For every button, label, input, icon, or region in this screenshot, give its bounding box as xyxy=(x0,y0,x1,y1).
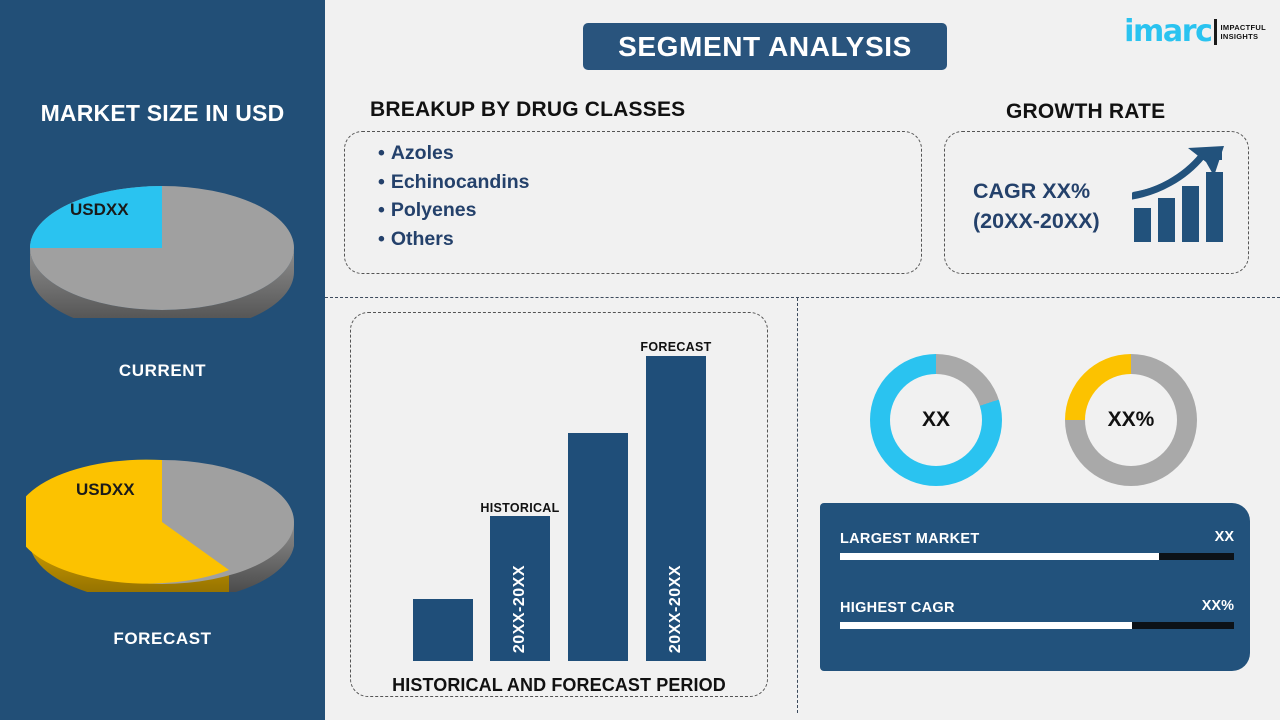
bullet-icon: • xyxy=(378,199,385,221)
highest-cagr-label: HIGHEST CAGR xyxy=(840,600,955,616)
bar-4-label: 20XX-20XX xyxy=(667,565,685,653)
list-item: •Echinocandins xyxy=(378,168,530,197)
logo-tagline-line1: IMPACTFUL xyxy=(1221,23,1266,32)
bullet-icon: • xyxy=(378,142,385,164)
list-item-label: Azoles xyxy=(391,142,454,164)
largest-market-track xyxy=(840,553,1234,560)
list-item: •Polyenes xyxy=(378,196,530,225)
pie-chart-forecast: USDXX xyxy=(26,442,298,597)
bar-2-label: 20XX-20XX xyxy=(511,565,529,653)
largest-market-label: LARGEST MARKET xyxy=(840,531,980,547)
logo-wordmark: imarc xyxy=(1124,17,1211,47)
list-item: •Others xyxy=(378,225,530,254)
imarc-logo: imarc IMPACTFUL INSIGHTS xyxy=(1124,12,1266,52)
pie-forecast-caption: FORECAST xyxy=(0,629,325,649)
pie-chart-current: USDXX xyxy=(26,168,298,323)
pie-current-svg xyxy=(26,168,298,318)
page-title-badge: SEGMENT ANALYSIS xyxy=(583,23,947,70)
logo-tagline-line2: INSIGHTS xyxy=(1221,32,1266,41)
bar-3 xyxy=(568,433,628,661)
growth-arrow-chart-icon xyxy=(1132,146,1228,249)
pie-current-caption: CURRENT xyxy=(0,361,325,381)
logo-tagline: IMPACTFUL INSIGHTS xyxy=(1221,23,1266,42)
largest-market-value: XX xyxy=(1215,529,1234,545)
donut-chart-2: XX% xyxy=(1065,354,1197,486)
bar-1 xyxy=(413,599,473,661)
donut-1-value: XX xyxy=(922,408,950,432)
bullet-icon: • xyxy=(378,228,385,250)
logo-divider-bar xyxy=(1214,19,1217,45)
donut-chart-1: XX xyxy=(870,354,1002,486)
growth-rate-title: GROWTH RATE xyxy=(1006,100,1165,124)
horizontal-divider xyxy=(325,297,1280,298)
page-title: SEGMENT ANALYSIS xyxy=(618,31,912,63)
highest-cagr-track xyxy=(840,622,1234,629)
donut-1-hole: XX xyxy=(890,374,982,466)
list-item-label: Polyenes xyxy=(391,199,477,221)
drug-classes-list: •Azoles •Echinocandins •Polyenes •Others xyxy=(378,139,530,253)
historical-forecast-bar-chart: 20XX-20XX 20XX-20XX HISTORICAL FORECAST xyxy=(350,312,768,697)
list-item-label: Echinocandins xyxy=(391,171,530,193)
highest-cagr-value: XX% xyxy=(1202,598,1234,614)
bullet-icon: • xyxy=(378,171,385,193)
historical-annotation: HISTORICAL xyxy=(460,501,580,515)
cagr-line: CAGR XX% xyxy=(973,176,1100,206)
market-size-sidebar: MARKET SIZE IN USD USDXX CURRENT xyxy=(0,0,325,720)
donut-2-value: XX% xyxy=(1108,408,1155,432)
sidebar-title: MARKET SIZE IN USD xyxy=(0,100,325,127)
infographic-page: MARKET SIZE IN USD USDXX CURRENT xyxy=(0,0,1280,720)
donut-2-hole: XX% xyxy=(1085,374,1177,466)
largest-market-fill xyxy=(840,553,1159,560)
vertical-divider xyxy=(797,298,798,713)
forecast-annotation: FORECAST xyxy=(616,340,736,354)
list-item: •Azoles xyxy=(378,139,530,168)
drug-classes-title: BREAKUP BY DRUG CLASSES xyxy=(370,98,685,122)
bar-2: 20XX-20XX xyxy=(490,516,550,661)
highest-cagr-fill xyxy=(840,622,1132,629)
key-stats-panel: LARGEST MARKET XX HIGHEST CAGR XX% xyxy=(820,503,1250,671)
cagr-period-line: (20XX-20XX) xyxy=(973,206,1100,236)
bar-chart-axis-label: HISTORICAL AND FORECAST PERIOD xyxy=(350,675,768,696)
growth-rate-text: CAGR XX% (20XX-20XX) xyxy=(973,176,1100,236)
pie-forecast-svg xyxy=(26,442,298,592)
list-item-label: Others xyxy=(391,228,454,250)
bar-4: 20XX-20XX xyxy=(646,356,706,661)
